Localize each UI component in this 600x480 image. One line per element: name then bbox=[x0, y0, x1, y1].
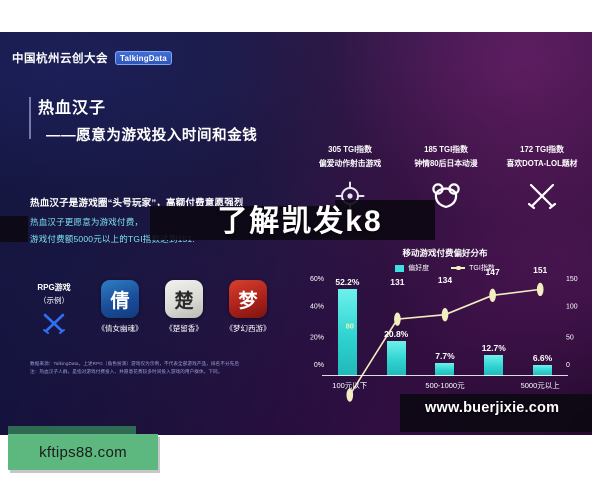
tgi-value: 305 TGI指数 bbox=[302, 144, 398, 155]
game-examples-row: RPG游戏 （示例） 倩 《倩女幽魂》 楚 bbox=[26, 280, 274, 335]
site-badge-watermark[interactable]: kftips88.com bbox=[8, 434, 158, 470]
y-tick: 40% bbox=[310, 304, 324, 311]
list-item[interactable]: 梦 《梦幻西游》 bbox=[222, 280, 274, 334]
chart-bars: 52.2%20.8%7.7%12.7%6.6% bbox=[326, 276, 564, 376]
legend-line-icon bbox=[451, 267, 465, 269]
poster-title: 热血汉子 ——愿意为游戏投入时间和金钱 bbox=[38, 94, 257, 145]
watermark-backdrop bbox=[335, 200, 435, 240]
legend-label: 偏好度 bbox=[408, 263, 429, 273]
y-tick: 0% bbox=[314, 362, 324, 369]
line-point-label: 131 bbox=[390, 277, 404, 287]
footnote-line-2: 注：热血汉子人群，是指对游戏付费投入、并愿意花费较多时间投入游戏的用户群体。下同… bbox=[30, 368, 285, 376]
chart-plot-area: 60% 40% 20% 0% 150 100 50 0 52.2%20.8%7.… bbox=[326, 276, 564, 376]
chart-bar: 52.2% bbox=[338, 289, 357, 376]
y-tick: 60% bbox=[310, 276, 324, 283]
bar-value-label: 6.6% bbox=[533, 353, 552, 363]
rpg-category-label: RPG游戏 （示例） bbox=[26, 280, 82, 335]
talkingdata-logo-badge: TalkingData bbox=[115, 51, 172, 65]
footnote-line-1: 数据来源：TalkingData，上述RPG（角色扮演）游戏仅为示例，不代表全部… bbox=[30, 360, 285, 368]
y2-tick: 150 bbox=[566, 276, 578, 283]
crossed-swords-icon bbox=[26, 311, 82, 335]
legend-swatch-icon bbox=[395, 265, 404, 272]
y-axis-left: 60% 40% 20% 0% bbox=[300, 276, 324, 376]
line-point-label: 80 bbox=[346, 322, 354, 331]
bar-value-label: 52.2% bbox=[335, 277, 359, 287]
game-app-icon-menghuan[interactable]: 梦 bbox=[229, 280, 267, 318]
legend-item-bar[interactable]: 偏好度 bbox=[395, 263, 429, 273]
list-item[interactable]: 倩 《倩女幽魂》 bbox=[94, 280, 146, 334]
bar-column: 20.8% bbox=[375, 276, 418, 376]
rpg-label-line2: （示例） bbox=[26, 295, 82, 306]
list-item[interactable]: 楚 《楚留香》 bbox=[158, 280, 210, 334]
bar-value-label: 20.8% bbox=[384, 329, 408, 339]
chart-baseline bbox=[322, 375, 568, 377]
chart-bar: 12.7% bbox=[484, 355, 503, 376]
y2-tick: 50 bbox=[566, 335, 574, 342]
bar-value-label: 7.7% bbox=[435, 351, 454, 361]
game-app-icon-qiannv[interactable]: 倩 bbox=[101, 280, 139, 318]
brand-bar: 中国杭州云创大会 TalkingData bbox=[12, 50, 172, 66]
tgi-description: 钟情80后日本动漫 bbox=[398, 158, 494, 169]
rpg-label-line1: RPG游戏 bbox=[26, 282, 82, 293]
watermark-backdrop bbox=[0, 216, 28, 242]
poster-canvas: 中国杭州云创大会 TalkingData 热血汉子 ——愿意为游戏投入时间和金钱… bbox=[0, 32, 592, 435]
game-title: 《梦幻西游》 bbox=[222, 323, 274, 334]
bar-column: 12.7% bbox=[472, 276, 515, 376]
title-subtitle: ——愿意为游戏投入时间和金钱 bbox=[46, 124, 257, 145]
site-badge-label: kftips88.com bbox=[39, 444, 127, 461]
bar-column: 6.6% bbox=[521, 276, 564, 376]
watermark-backdrop bbox=[150, 206, 335, 240]
x-tick-label: 500-1000元 bbox=[425, 380, 464, 391]
conference-name: 中国杭州云创大会 bbox=[12, 50, 108, 66]
game-app-icon-chuliuxiang[interactable]: 楚 bbox=[165, 280, 203, 318]
footnote: 数据来源：TalkingData，上述RPG（角色扮演）游戏仅为示例，不代表全部… bbox=[30, 360, 285, 377]
y-tick: 20% bbox=[310, 335, 324, 342]
line-point-label: 134 bbox=[438, 275, 452, 285]
y2-tick: 0 bbox=[566, 362, 570, 369]
game-title: 《倩女幽魂》 bbox=[94, 323, 146, 334]
x-tick-label: 5000元以上 bbox=[521, 380, 560, 391]
tgi-value: 172 TGI指数 bbox=[494, 144, 590, 155]
title-main: 热血汉子 bbox=[38, 94, 257, 118]
tgi-description: 喜欢DOTA-LOL题材 bbox=[494, 158, 590, 169]
url-watermark: www.buerjixie.com bbox=[425, 400, 559, 416]
x-axis-labels: 100元以下500-1000元5000元以上 bbox=[326, 380, 564, 392]
crossed-swords-icon bbox=[494, 179, 590, 213]
x-tick-label: 100元以下 bbox=[332, 380, 367, 391]
bar-value-label: 12.7% bbox=[482, 343, 506, 353]
line-point-label: 151 bbox=[533, 265, 547, 275]
y-axis-right: 150 100 50 0 bbox=[562, 276, 590, 376]
game-title: 《楚留香》 bbox=[158, 323, 210, 334]
payment-preference-chart: 移动游戏付费偏好分布 偏好度 TGI指数 60% 40% 20% 0% 150 … bbox=[300, 247, 590, 397]
tgi-description: 偏爱动作射击游戏 bbox=[302, 158, 398, 169]
chart-bar: 20.8% bbox=[387, 341, 406, 376]
tgi-value: 185 TGI指数 bbox=[398, 144, 494, 155]
y2-tick: 100 bbox=[566, 304, 578, 311]
line-point-label: 147 bbox=[486, 267, 500, 277]
chart-title: 移动游戏付费偏好分布 bbox=[300, 247, 590, 259]
tgi-stat-block-3: 172 TGI指数 喜欢DOTA-LOL题材 bbox=[494, 144, 590, 213]
bar-column: 7.7% bbox=[424, 276, 467, 376]
